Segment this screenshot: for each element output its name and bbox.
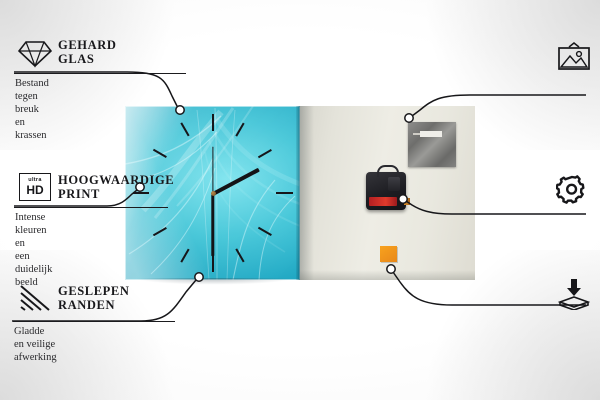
callout-rule (14, 73, 186, 74)
ultra-hd-icon: ultra HD (19, 173, 51, 203)
back-panel-bottom-shadow (300, 270, 475, 280)
callout-title: GEHARD GLAS (58, 38, 116, 66)
mechanism-hanging-loop (377, 165, 399, 177)
battery (369, 197, 397, 206)
callout-caption: Intense kleuren en een duidelijk beeld (15, 211, 52, 289)
hanger-slot (420, 131, 442, 137)
callout-rule (14, 207, 168, 208)
diamond-icon (18, 38, 50, 68)
metal-hanger (408, 122, 456, 167)
clock-mechanism (366, 172, 406, 210)
hd-badge: ultra HD (19, 173, 51, 201)
callout-caption: Bestand tegen breuk en krassen (15, 77, 49, 142)
gear-icon (556, 174, 588, 204)
callout-title: HOOGWAARDIGE PRINT (58, 173, 174, 201)
battery-terminal (404, 198, 410, 205)
press-down-pad-icon (558, 278, 590, 308)
callout-rule (13, 321, 175, 322)
hd-badge-hd-text: HD (26, 184, 43, 196)
mechanism-detail (388, 177, 400, 191)
back-panel-left-shadow (300, 106, 314, 280)
beveled-edge-icon (19, 284, 51, 314)
product-photo (125, 106, 475, 280)
infographic-canvas: GEHARD GLAS Bestand tegen breuk en krass… (0, 0, 600, 400)
picture-frame-hanger-icon (557, 42, 589, 72)
foam-spacer-pad (380, 246, 397, 262)
product-drop-shadow (127, 278, 301, 287)
callout-caption: Gladde en veilige afwerking (14, 325, 57, 364)
callout-title: GESLEPEN RANDEN (58, 284, 130, 312)
clock-back-view (300, 106, 475, 280)
